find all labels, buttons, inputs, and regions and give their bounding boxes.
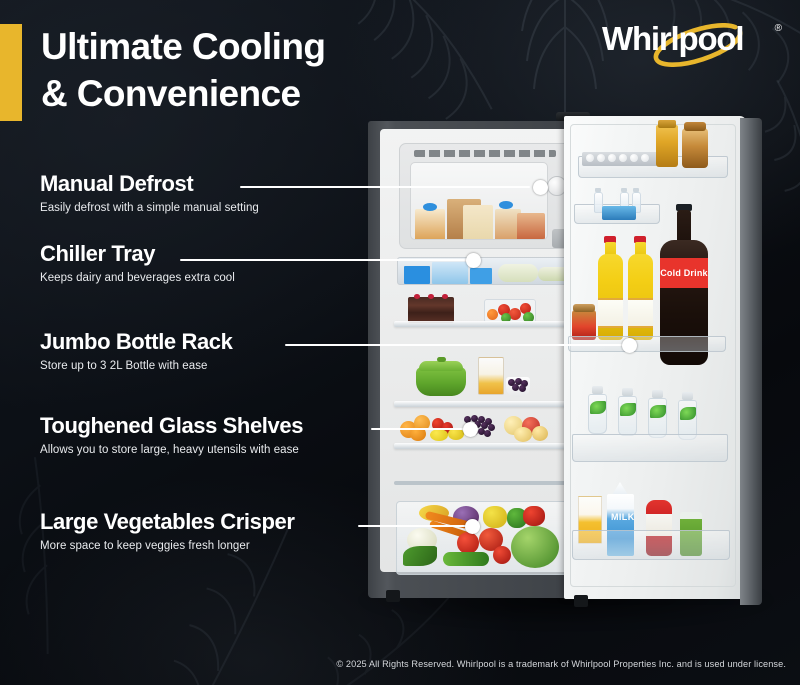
feature-toughened-glass-shelves: Toughened Glass Shelves Allows you to st… [40, 414, 303, 456]
juice-label [598, 298, 623, 328]
poster-canvas: Ultimate Cooling & Convenience Whirlpool… [0, 0, 800, 685]
mustard-jar [656, 125, 678, 167]
frozen-label-icon [423, 203, 437, 211]
freezer-vent-grille [414, 150, 556, 157]
water-bottle [618, 396, 637, 436]
freezer-window [410, 162, 548, 240]
feature-large-vegetables-crisper: Large Vegetables Crisper More space to k… [40, 510, 295, 552]
frozen-pack [517, 213, 545, 239]
juice-bottle [628, 254, 653, 340]
berry-icon [442, 294, 448, 299]
chiller-item [404, 266, 430, 284]
feature-title: Manual Defrost [40, 172, 259, 195]
milk-label: MILK [611, 512, 635, 522]
leader-dot-toughened-glass [463, 422, 478, 437]
feature-chiller-tray: Chiller Tray Keeps dairy and beverages e… [40, 242, 235, 284]
grape-icon [484, 430, 491, 437]
chiller-item [498, 264, 538, 282]
feature-subtitle: Allows you to store large, heavy utensil… [40, 444, 303, 456]
feature-title: Large Vegetables Crisper [40, 510, 295, 533]
leaf-label-icon [650, 405, 666, 418]
green-casserole-pot [416, 367, 466, 396]
whirlpool-logo: Whirlpool ® [602, 17, 782, 69]
pot-lid [419, 361, 463, 371]
frozen-pack [415, 209, 445, 239]
jar-lid [658, 120, 676, 128]
frozen-pack [463, 205, 493, 239]
fridge-interior [380, 129, 576, 572]
juice-label [628, 298, 653, 328]
juice-bottle [598, 254, 623, 340]
bottle-cap-icon [622, 388, 633, 396]
bottle-cap-icon [652, 390, 663, 398]
glass-shelf [394, 401, 582, 407]
egg-icon [630, 154, 638, 162]
feature-subtitle: Easily defrost with a simple manual sett… [40, 202, 259, 214]
cola-neck [677, 210, 691, 244]
bottle-cap-icon [595, 188, 601, 192]
leaf-label-icon [620, 403, 636, 416]
door-foot [574, 595, 588, 607]
bottle-cap-icon [592, 386, 603, 394]
glass-shelf [394, 321, 582, 327]
feature-title: Chiller Tray [40, 242, 235, 265]
shelf-rail [394, 481, 582, 485]
egg-tray [582, 152, 660, 166]
apple-icon [514, 427, 532, 442]
tomato-icon [487, 309, 498, 320]
door-panel: Cold Drink [564, 116, 746, 599]
berry-icon [414, 294, 420, 299]
berry-bowl [506, 377, 530, 397]
feature-jumbo-bottle-rack: Jumbo Bottle Rack Store up to 3 2L Bottl… [40, 330, 232, 372]
bottle-cap-icon [682, 392, 693, 400]
leader-line-manual-defrost [240, 186, 530, 188]
headline-line-1: Ultimate Cooling [41, 26, 325, 67]
berry-icon [428, 294, 434, 299]
honey-jar [682, 128, 708, 168]
headline-line-2: & Convenience [41, 71, 461, 118]
leader-dot-chiller-tray [466, 253, 481, 268]
accent-bar [0, 24, 22, 121]
leader-line-jumbo-bottle-rack [285, 344, 625, 346]
tomato-icon [457, 532, 479, 554]
chiller-item [470, 268, 492, 284]
page-title: Ultimate Cooling & Convenience [41, 24, 461, 117]
feature-title: Toughened Glass Shelves [40, 414, 303, 437]
fruit-group [398, 411, 578, 441]
leaf-icon [0, 455, 171, 676]
chiller-tray [397, 257, 579, 285]
egg-icon [619, 154, 627, 162]
door-outer-edge [740, 118, 762, 605]
feature-title: Jumbo Bottle Rack [40, 330, 232, 353]
bell-pepper-icon [483, 506, 507, 528]
bottle-cap-icon [633, 188, 639, 192]
freezer-compartment [399, 143, 577, 249]
egg-icon [608, 154, 616, 162]
jar-lid [573, 304, 595, 312]
glass-shelf [394, 443, 582, 449]
tomato-tray [484, 299, 536, 323]
feature-subtitle: More space to keep veggies fresh longer [40, 540, 295, 552]
freezer-contents [411, 195, 547, 239]
leader-dot-jumbo-bottle-rack [622, 338, 637, 353]
cucumber-icon [443, 552, 489, 566]
cabbage-green-icon [511, 526, 559, 568]
egg-icon [641, 154, 649, 162]
jar-lid [684, 122, 706, 131]
leader-line-vegetables-crisper [358, 525, 468, 527]
vegetable-crisper [396, 501, 580, 575]
refrigerator-illustration: Cold Drink [368, 116, 788, 606]
door-bin-bottom [572, 530, 730, 560]
bottle-cap-icon [621, 188, 627, 192]
lemon-icon [430, 429, 448, 441]
cabinet-foot [386, 590, 400, 602]
water-bottle [588, 394, 607, 434]
cereal-box [478, 357, 504, 395]
brand-name: Whirlpool [602, 20, 743, 58]
registered-mark-icon: ® [775, 23, 782, 34]
feature-manual-defrost: Manual Defrost Easily defrost with a sim… [40, 172, 259, 214]
apple-icon [532, 426, 548, 441]
blue-pack [602, 206, 636, 220]
leafy-green-icon [403, 546, 437, 566]
leader-line-chiller-tray [180, 259, 470, 261]
egg-icon [586, 154, 594, 162]
fridge-door[interactable]: Cold Drink [564, 116, 764, 606]
leader-dot-vegetables-crisper [465, 519, 480, 534]
frozen-label-icon [499, 201, 513, 209]
pot-knob-icon [437, 357, 446, 362]
leader-line-toughened-glass [371, 428, 466, 430]
water-bottle [648, 398, 667, 438]
cola-label: Cold Drink [660, 258, 708, 288]
leader-dot-manual-defrost [533, 180, 548, 195]
door-bin-water [572, 434, 728, 462]
chiller-item [432, 262, 468, 284]
footer-copyright: © 2025 All Rights Reserved. Whirlpool is… [0, 659, 786, 669]
feature-subtitle: Keeps dairy and beverages extra cool [40, 272, 235, 284]
blackberry-icon [512, 384, 519, 391]
leaf-label-icon [590, 401, 606, 414]
chocolate-cake [408, 297, 454, 323]
tomato-icon [493, 546, 511, 564]
feature-subtitle: Store up to 3 2L Bottle with ease [40, 360, 232, 372]
leaf-label-icon [680, 407, 696, 420]
blackberry-icon [519, 385, 526, 392]
egg-icon [597, 154, 605, 162]
bell-pepper-icon [523, 506, 545, 526]
